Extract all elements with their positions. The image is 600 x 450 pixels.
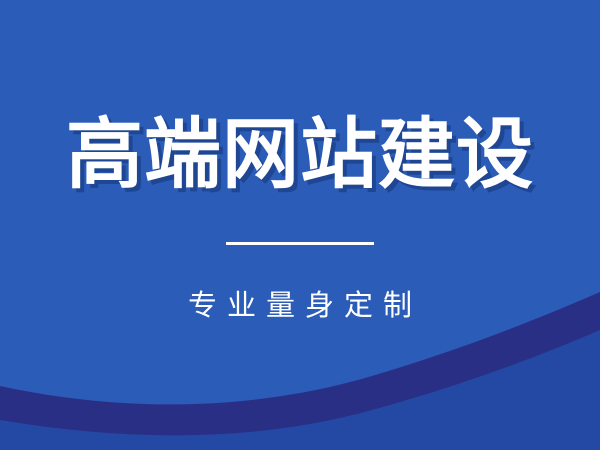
title-divider xyxy=(226,242,374,245)
page-subtitle: 专业量身定制 xyxy=(0,288,600,324)
page-title: 高端网站建设 xyxy=(0,112,600,198)
promo-banner: 高端网站建设 专业量身定制 xyxy=(0,0,600,450)
banner-content: 高端网站建设 专业量身定制 xyxy=(0,0,600,450)
